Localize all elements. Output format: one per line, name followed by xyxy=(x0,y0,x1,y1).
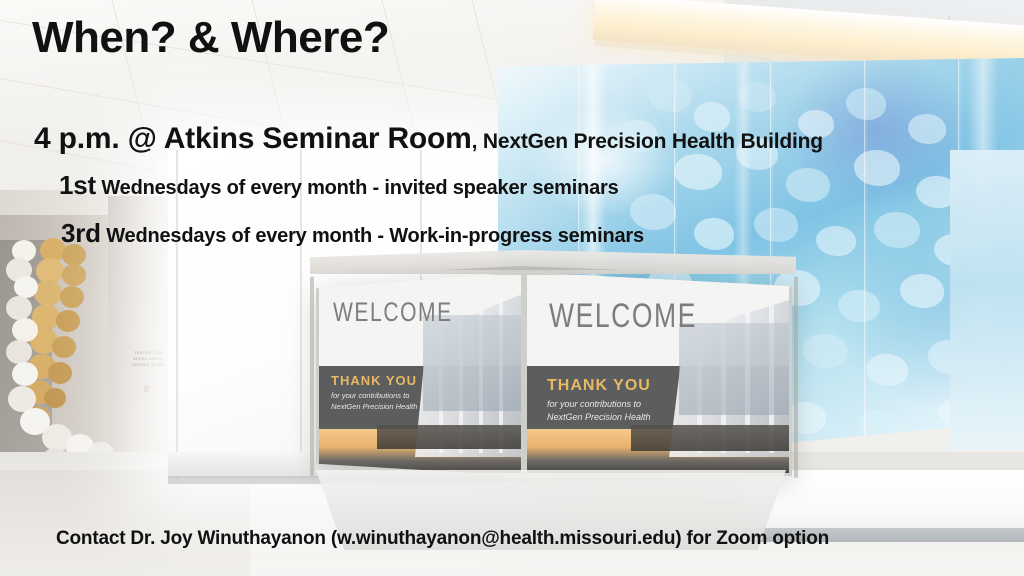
banner-welcome-text-left: WELCOME xyxy=(333,297,453,328)
banner-thankyou-sub-left-line1: for your contributions to xyxy=(331,391,409,400)
reception-counter xyxy=(742,470,1024,536)
page-title: When? & Where? xyxy=(32,12,389,64)
floor-left xyxy=(0,470,250,576)
banner-face-right: WELCOME THANK YOU for your contributions… xyxy=(524,272,792,476)
banner-thankyou-sub-right-line1: for your contributions to xyxy=(547,399,641,410)
presentation-slide: Tom and Lin Atkins Family Seminar Room xyxy=(0,0,1024,576)
schedule-ordinal-first: 1st xyxy=(59,170,96,200)
banner-welcome-text-right: WELCOME xyxy=(549,297,697,336)
wall-sign-line3: Seminar Room xyxy=(132,363,165,368)
wall-plaque xyxy=(144,385,149,392)
building-name: NextGen Precision Health Building xyxy=(483,130,823,153)
banner-thankyou-sub-right-line2: NextGen Precision Health xyxy=(547,412,651,423)
banner-thankyou-text-left: THANK YOU xyxy=(331,373,417,388)
contact-line: Contact Dr. Joy Winuthayanon (w.winuthay… xyxy=(56,528,829,550)
welcome-banner: WELCOME THANK YOU for your contributions… xyxy=(316,272,792,476)
background-photo: Tom and Lin Atkins Family Seminar Room xyxy=(0,0,1024,576)
schedule-detail-first: Wednesdays of every month - invited spea… xyxy=(96,177,619,199)
time-location-separator: , xyxy=(472,130,483,153)
wall-sign-line2: Atkins Family xyxy=(132,357,163,362)
schedule-line-third: 3rd Wednesdays of every month - Work-in-… xyxy=(61,218,644,249)
balloon-arch xyxy=(6,238,136,488)
wall-sign-line1: Tom and Lin xyxy=(134,351,162,356)
banner-thankyou-text-right: THANK YOU xyxy=(547,377,651,395)
far-lightbox-wall xyxy=(950,150,1024,450)
time-location-emphasis: 4 p.m. @ Atkins Seminar Room xyxy=(34,122,472,155)
time-and-location-line: 4 p.m. @ Atkins Seminar Room, NextGen Pr… xyxy=(34,122,823,156)
schedule-ordinal-third: 3rd xyxy=(61,218,101,248)
schedule-line-first: 1st Wednesdays of every month - invited … xyxy=(59,170,619,201)
schedule-detail-third: Wednesdays of every month - Work-in-prog… xyxy=(101,225,644,247)
banner-face-left: WELCOME THANK YOU for your contributions… xyxy=(316,272,524,476)
banner-thankyou-sub-left-line2: NextGen Precision Health xyxy=(331,402,417,411)
